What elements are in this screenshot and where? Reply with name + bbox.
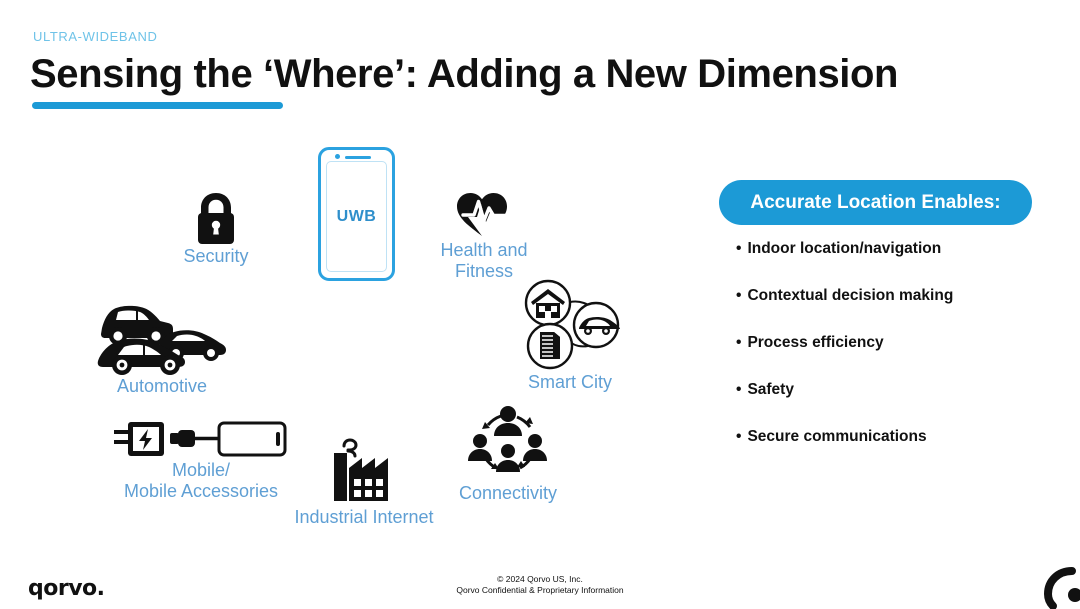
bullet-text: Indoor location/navigation	[747, 240, 941, 257]
confidential-text: Qorvo Confidential & Proprietary Informa…	[0, 585, 1080, 596]
people-network-icon	[465, 405, 551, 483]
slide-canvas: ULTRA-WIDEBAND Sensing the ‘Where’: Addi…	[0, 0, 1080, 608]
panel-heading-text: Accurate Location Enables:	[750, 192, 1000, 214]
bullet-dot-icon: •	[736, 287, 741, 304]
phone-speaker-slot	[345, 156, 371, 159]
eyebrow-label: ULTRA-WIDEBAND	[33, 29, 157, 44]
list-item: •Safety	[736, 381, 1056, 399]
node-label-industrial: Industrial Internet	[268, 507, 460, 528]
node-label-automotive: Automotive	[88, 376, 236, 397]
node-label-security: Security	[168, 246, 264, 267]
uwb-label: UWB	[321, 208, 392, 226]
bullet-dot-icon: •	[736, 334, 741, 351]
benefits-list: •Indoor location/navigation •Contextual …	[736, 240, 1056, 475]
uwb-phone-icon[interactable]: UWB	[318, 147, 395, 281]
page-title: Sensing the ‘Where’: Adding a New Dimens…	[30, 52, 898, 97]
bullet-dot-icon: •	[736, 428, 741, 445]
bullet-text: Secure communications	[747, 428, 926, 445]
phone-camera-dot	[335, 154, 340, 159]
list-item: •Process efficiency	[736, 334, 1056, 352]
diagram-node-automotive[interactable]: Automotive	[88, 298, 236, 397]
factory-icon	[322, 435, 406, 507]
node-label-smart-city: Smart City	[505, 372, 635, 393]
bullet-text: Process efficiency	[747, 334, 883, 351]
list-item: •Indoor location/navigation	[736, 240, 1056, 258]
qorvo-arc-mark-icon	[1034, 565, 1080, 609]
copyright-text: © 2024 Qorvo US, Inc.	[0, 574, 1080, 585]
list-item: •Secure communications	[736, 428, 1056, 446]
bullet-text: Safety	[747, 381, 794, 398]
node-label-connectivity: Connectivity	[437, 483, 579, 504]
smart-city-icon	[517, 278, 623, 372]
footer-notice: © 2024 Qorvo US, Inc. Qorvo Confidential…	[0, 574, 1080, 596]
bullet-text: Contextual decision making	[747, 287, 953, 304]
heart-pulse-icon	[453, 188, 515, 240]
charger-phone-icon	[112, 420, 290, 460]
list-item: •Contextual decision making	[736, 287, 1056, 305]
diagram-node-industrial[interactable]: Industrial Internet	[268, 435, 460, 528]
node-label-health-line1: Health and	[428, 240, 540, 261]
padlock-icon	[190, 190, 242, 246]
bullet-dot-icon: •	[736, 240, 741, 257]
title-underline-rule	[32, 102, 283, 109]
bullet-dot-icon: •	[736, 381, 741, 398]
accurate-location-heading-pill: Accurate Location Enables:	[719, 180, 1032, 225]
cars-icon	[92, 298, 232, 376]
diagram-node-connectivity[interactable]: Connectivity	[437, 405, 579, 504]
diagram-node-smart-city[interactable]: Smart City	[505, 278, 635, 393]
diagram-node-health-fitness[interactable]: Health and Fitness	[428, 188, 540, 282]
diagram-node-security[interactable]: Security	[168, 190, 264, 267]
